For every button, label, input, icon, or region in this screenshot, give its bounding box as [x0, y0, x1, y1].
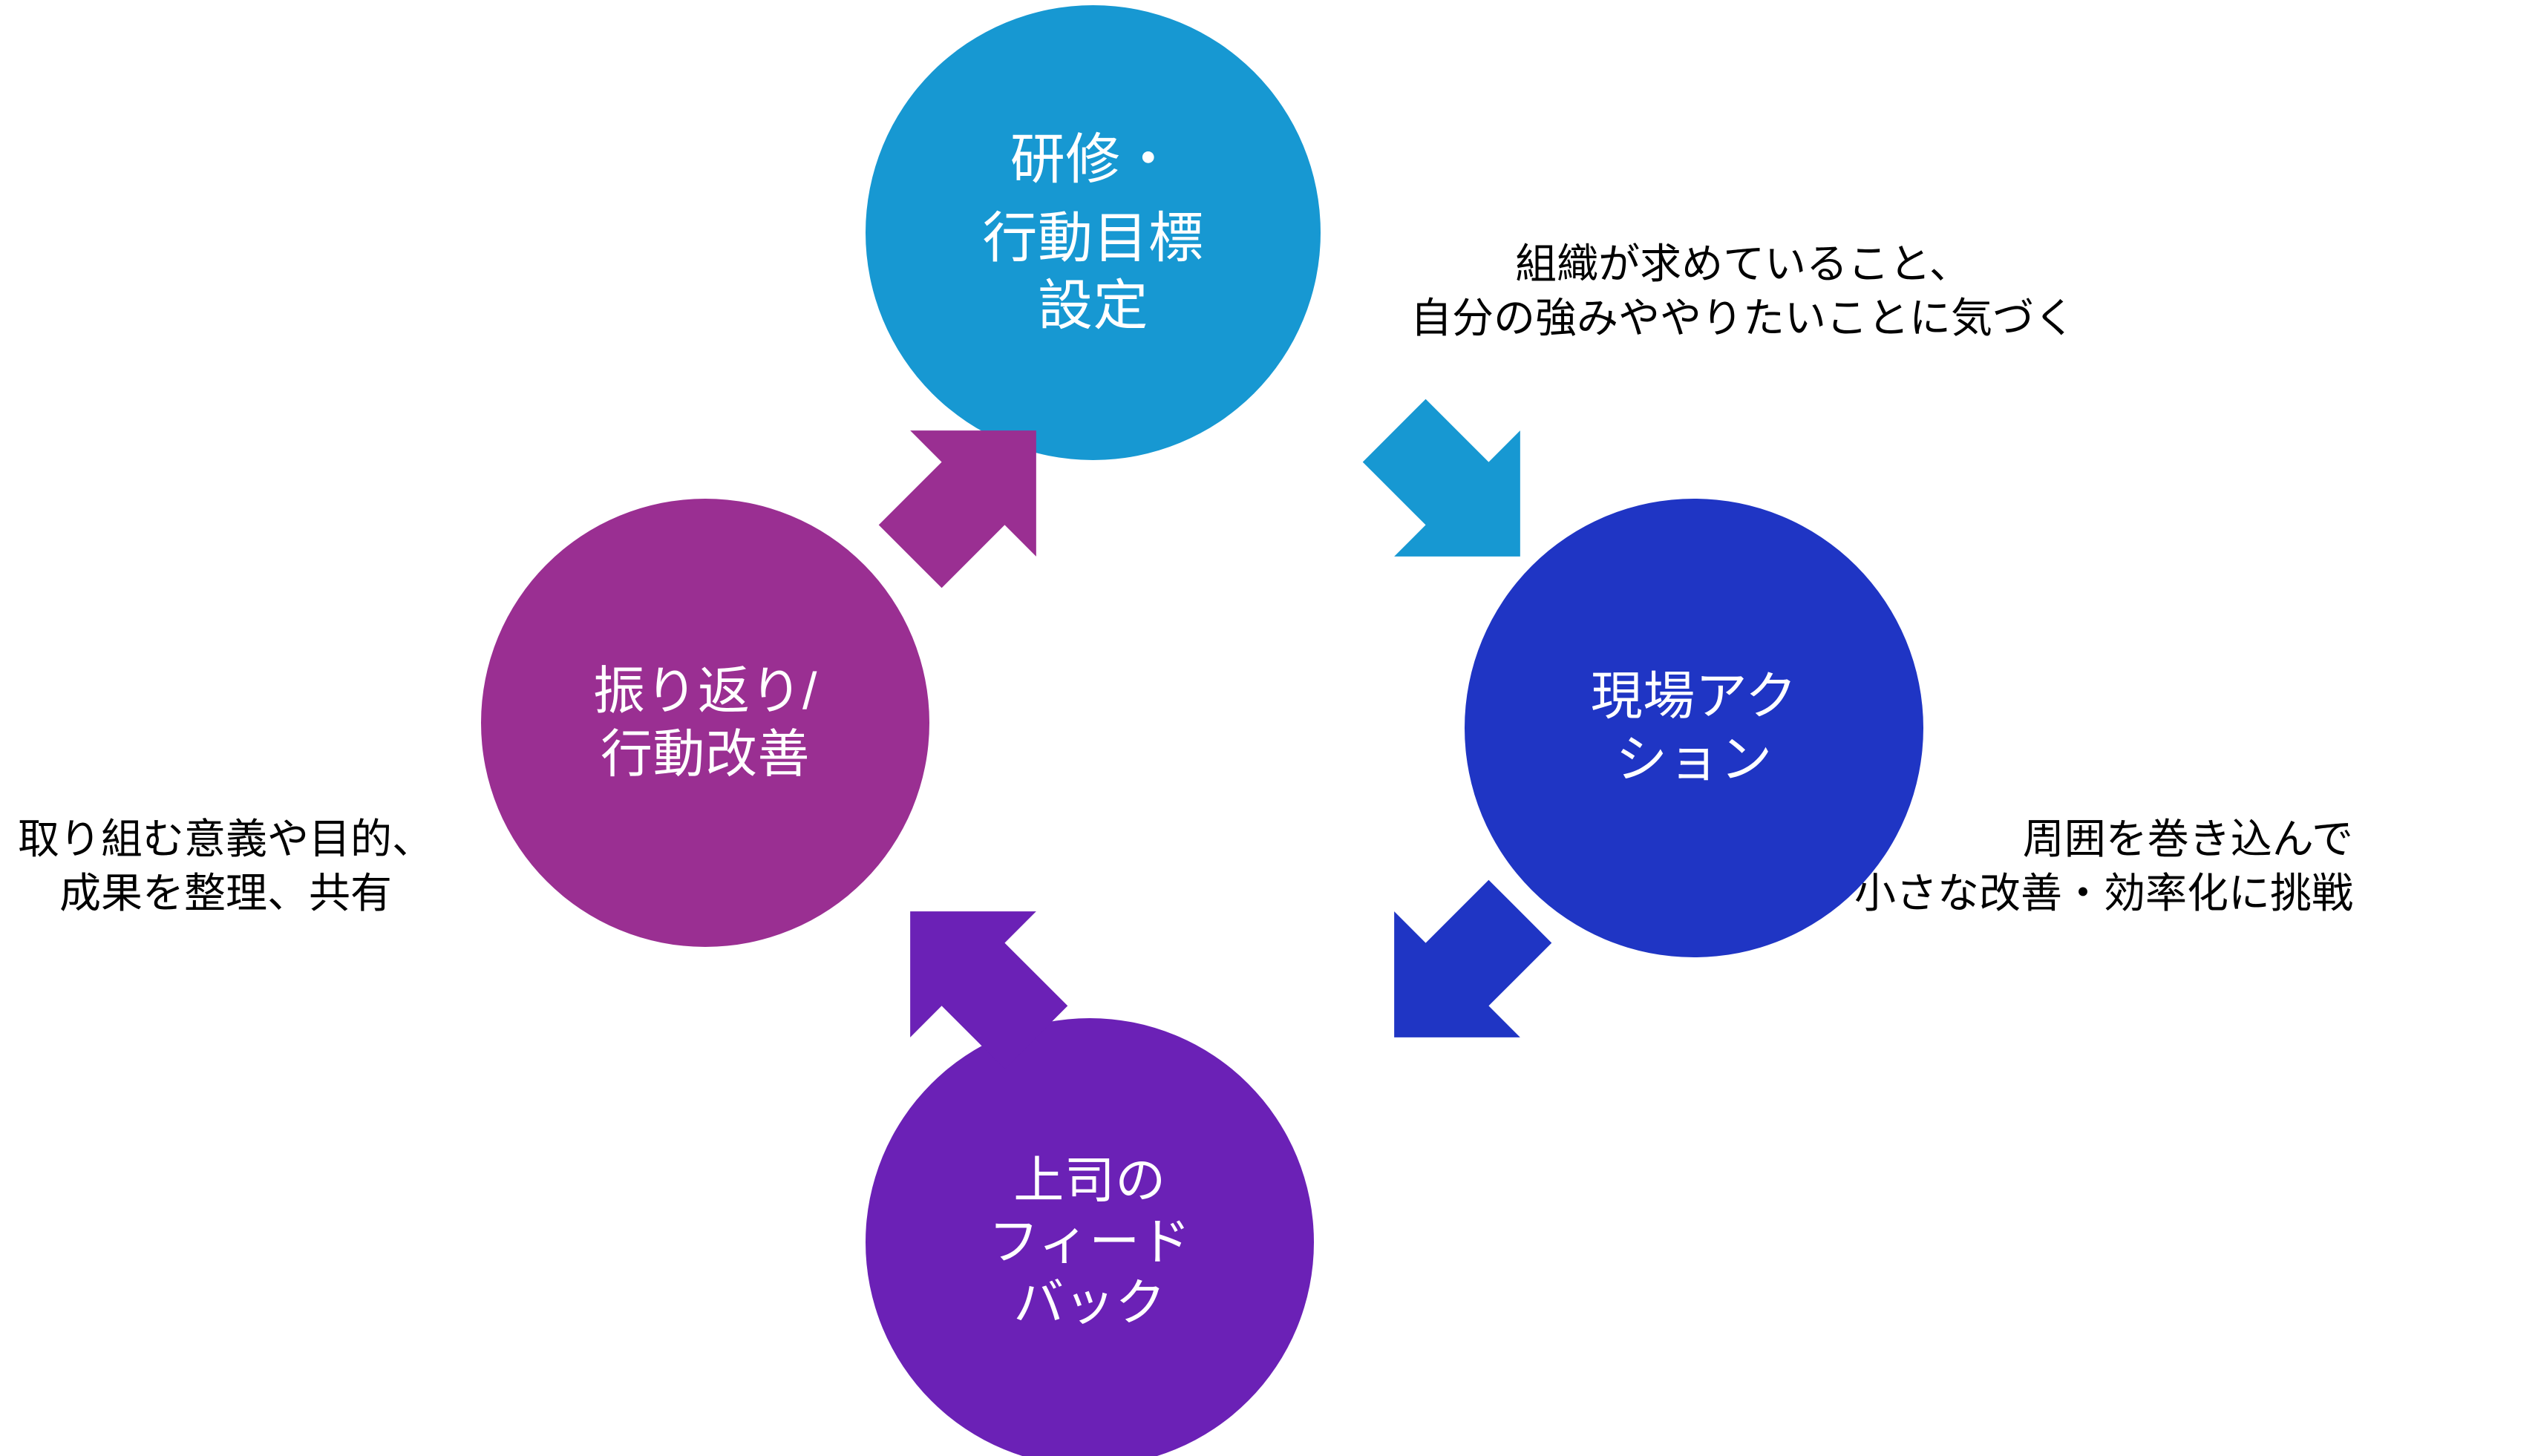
cycle-node-feedback-line-1: 上司の — [1013, 1150, 1166, 1212]
cycle-node-training-line-2: 行動目標 — [983, 205, 1204, 272]
cycle-node-action-line-1: 現場アク — [1591, 665, 1798, 728]
cycle-node-feedback-line-2: フィード — [989, 1212, 1191, 1273]
caption-training: 組織が求めていること、 自分の強みややりたいことに気づく — [1410, 237, 2076, 346]
cycle-node-action-line-2: ション — [1615, 728, 1773, 791]
cycle-node-reflection[interactable]: 振り返り/ 行動改善 — [481, 499, 929, 947]
cycle-node-feedback-line-3: バック — [1013, 1273, 1166, 1334]
caption-action-line-2: 小さな改善・効率化に挑戦 — [1854, 867, 2353, 921]
cycle-node-training[interactable]: 研修・ 行動目標 設定 — [866, 5, 1321, 460]
caption-reflection: 取り組む意義や目的、 成果を整理、共有 — [18, 813, 434, 921]
cycle-node-feedback[interactable]: 上司の フィード バック — [866, 1018, 1314, 1456]
caption-reflection-line-2: 成果を整理、共有 — [18, 867, 434, 921]
cycle-node-training-line-3: 設定 — [1038, 272, 1148, 339]
cycle-diagram: 研修・ 行動目標 設定 現場アク ション 上司の フィード バック 振り返り/ … — [0, 0, 2538, 1456]
caption-reflection-line-1: 取り組む意義や目的、 — [18, 813, 434, 867]
caption-training-line-2: 自分の強みややりたいことに気づく — [1410, 292, 2076, 346]
cycle-node-training-line-1: 研修・ — [1010, 126, 1177, 193]
cycle-node-reflection-line-1: 振り返り/ — [593, 660, 817, 723]
caption-training-line-1: 組織が求めていること、 — [1410, 237, 2076, 292]
cycle-node-reflection-line-2: 行動改善 — [601, 723, 810, 786]
caption-action: 周囲を巻き込んで 小さな改善・効率化に挑戦 — [1854, 813, 2353, 921]
caption-action-line-1: 周囲を巻き込んで — [1854, 813, 2353, 867]
